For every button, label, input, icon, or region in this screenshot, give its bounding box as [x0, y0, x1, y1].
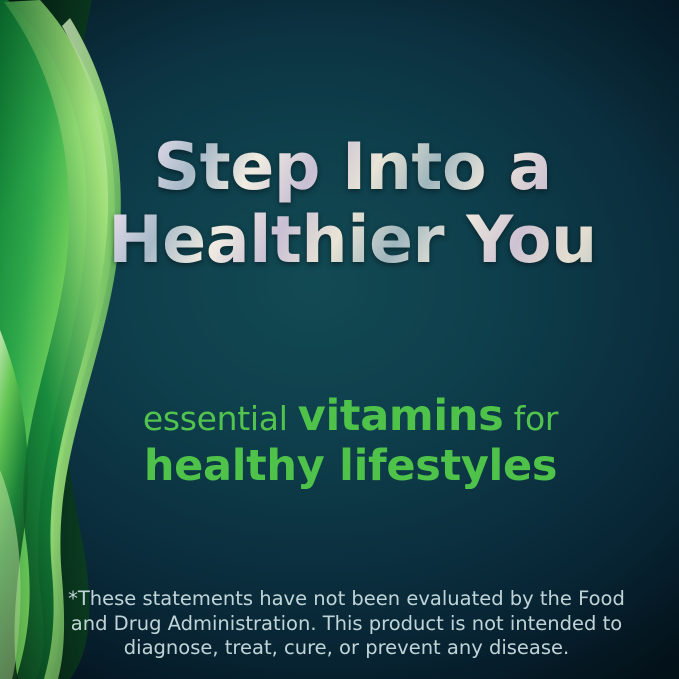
disclaimer-line-1: *These statements have not been evaluate… — [40, 587, 653, 612]
banner-content: Step Into a Healthier You essential vita… — [0, 0, 679, 679]
subheadline-line-1: essential vitamins for — [22, 392, 679, 442]
disclaimer-line-3: diagnose, treat, cure, or prevent any di… — [40, 636, 653, 661]
headline-line-2: Healthier You — [26, 205, 679, 278]
disclaimer-text: *These statements have not been evaluate… — [0, 587, 679, 661]
subheadline: essential vitamins for healthy lifestyle… — [0, 392, 679, 492]
subheadline-line-2: healthy lifestyles — [22, 442, 679, 492]
headline: Step Into a Healthier You — [0, 132, 679, 278]
disclaimer-line-2: and Drug Administration. This product is… — [40, 612, 653, 637]
subheadline-word-for: for — [503, 399, 558, 438]
subheadline-word-essential: essential — [143, 399, 298, 438]
headline-line-1: Step Into a — [153, 130, 551, 205]
vitamin-promo-banner: Step Into a Healthier You essential vita… — [0, 0, 679, 679]
subheadline-word-vitamins: vitamins — [298, 391, 504, 441]
